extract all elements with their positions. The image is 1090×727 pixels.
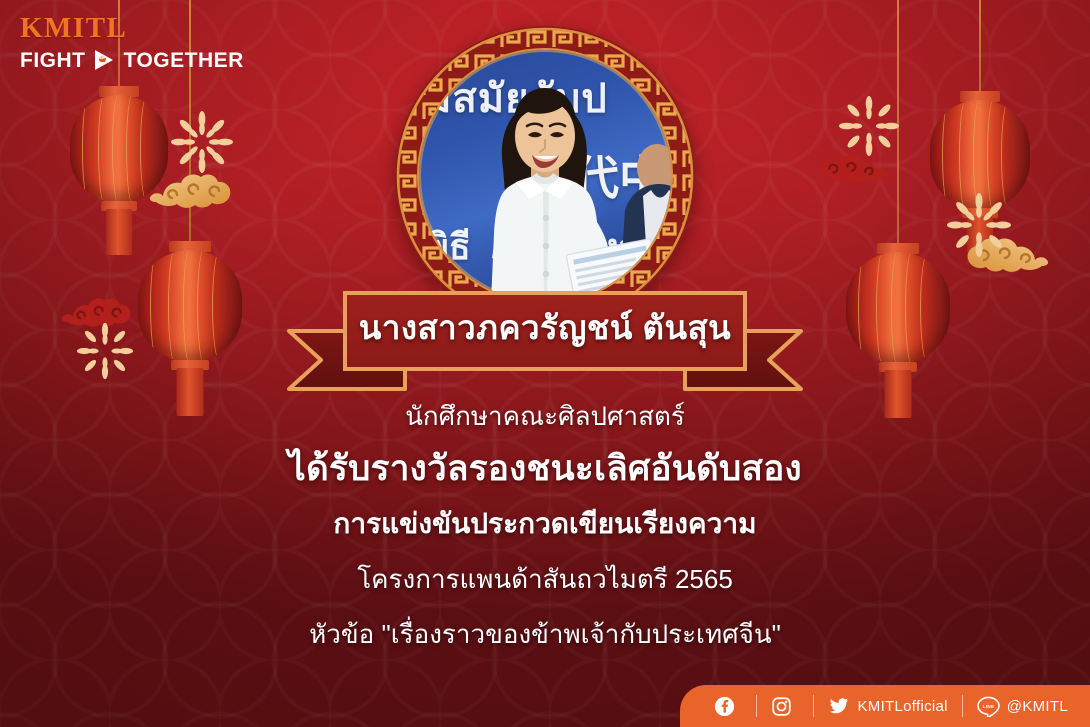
twitter-icon[interactable] bbox=[828, 696, 850, 716]
student-photo: มสมัยกับป 代中 พิธี งวัล bbox=[419, 50, 671, 302]
separator bbox=[813, 695, 814, 717]
firework-burst-icon bbox=[838, 95, 900, 157]
student-photo-frame: มสมัยกับป 代中 พิธี งวัล bbox=[395, 26, 695, 326]
name-ribbon: นางสาวภควรัญชน์ ตันสุน bbox=[285, 289, 805, 395]
svg-text:LINE: LINE bbox=[982, 703, 994, 709]
chinese-lantern-icon bbox=[138, 250, 242, 362]
chinese-cloud-icon bbox=[954, 232, 1050, 284]
kmitl-wordmark: KMITL bbox=[20, 14, 244, 43]
chinese-lantern-icon bbox=[930, 100, 1030, 210]
facebook-icon[interactable] bbox=[714, 696, 735, 717]
fight-label: FIGHT bbox=[20, 50, 86, 71]
facebook-link[interactable] bbox=[714, 696, 742, 717]
chinese-cloud-icon bbox=[60, 292, 142, 338]
kmitl-logo: KMITL FIGHT TOGETHER bbox=[20, 14, 244, 72]
instagram-link[interactable] bbox=[771, 696, 799, 717]
separator bbox=[962, 695, 963, 717]
project-line: โครงการแพนด้าสันถวไมตรี 2565 bbox=[0, 563, 1090, 596]
firework-burst-icon bbox=[170, 110, 234, 174]
chinese-cloud-icon bbox=[148, 168, 244, 220]
line-handle: @KMITL bbox=[1007, 698, 1068, 715]
firework-burst-icon bbox=[76, 322, 134, 380]
instagram-icon[interactable] bbox=[771, 696, 792, 717]
chinese-cloud-icon bbox=[808, 148, 890, 194]
line-icon[interactable]: LINE bbox=[977, 696, 1000, 717]
twitter-handle: KMITLofficial bbox=[857, 698, 947, 715]
chinese-lantern-icon bbox=[846, 252, 950, 364]
together-label: TOGETHER bbox=[124, 50, 244, 71]
separator bbox=[756, 695, 757, 717]
poster-canvas: KMITL FIGHT TOGETHER bbox=[0, 0, 1090, 727]
contest-line: การแข่งขันประกวดเขียนเรียงความ bbox=[0, 506, 1090, 541]
line-link[interactable]: LINE @KMITL bbox=[977, 696, 1068, 717]
topic-line: หัวข้อ "เรื่องราวของข้าพเจ้ากับประเทศจีน… bbox=[0, 618, 1090, 651]
chinese-lantern-icon bbox=[70, 95, 168, 203]
faculty-line: นักศึกษาคณะศิลปศาสตร์ bbox=[0, 400, 1090, 433]
fist-icon bbox=[92, 48, 118, 72]
social-media-bar: KMITLofficial LINE @KMITL bbox=[680, 685, 1090, 727]
award-line: ได้รับรางวัลรองชนะเลิศอันดับสอง bbox=[0, 447, 1090, 491]
firework-burst-icon bbox=[946, 192, 1012, 258]
award-text-block: นักศึกษาคณะศิลปศาสตร์ ได้รับรางวัลรองชนะ… bbox=[0, 400, 1090, 650]
twitter-link[interactable]: KMITLofficial bbox=[828, 696, 947, 716]
right-decoration-group bbox=[800, 0, 1050, 400]
student-name: นางสาวภควรัญชน์ ตันสุน bbox=[285, 297, 805, 357]
